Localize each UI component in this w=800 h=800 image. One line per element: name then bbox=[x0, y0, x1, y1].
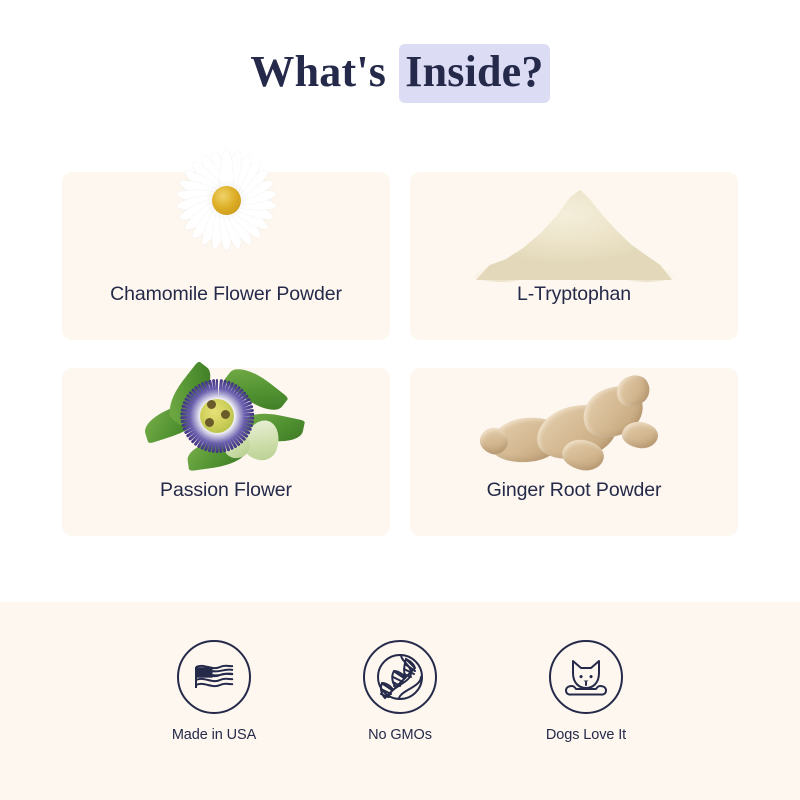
dog-with-bone-icon bbox=[549, 640, 623, 714]
dna-helix-icon bbox=[363, 640, 437, 714]
trust-badge-label: Dogs Love It bbox=[527, 727, 645, 743]
trust-badge-label: No GMOs bbox=[341, 727, 459, 743]
bloom-stigma bbox=[207, 400, 216, 409]
ingredient-label: L-Tryptophan bbox=[517, 283, 631, 306]
trust-badge-label: Made in USA bbox=[155, 727, 273, 743]
ingredient-card-l-tryptophan[interactable]: L-Tryptophan bbox=[410, 172, 738, 340]
trust-badge-no-gmos: No GMOs bbox=[341, 640, 459, 743]
ingredient-label: Passion Flower bbox=[160, 479, 292, 502]
bloom-stigma bbox=[205, 418, 214, 427]
ingredient-card-passion-flower[interactable]: Passion Flower bbox=[62, 368, 390, 536]
ingredient-label: Chamomile Flower Powder bbox=[110, 283, 342, 306]
ingredient-card-ginger-root[interactable]: Ginger Root Powder bbox=[410, 368, 738, 536]
daisy-flower-image bbox=[170, 144, 282, 256]
bloom-stigma bbox=[221, 410, 230, 419]
powder-heap bbox=[476, 186, 672, 280]
passion-bloom bbox=[177, 376, 257, 456]
ginger-knob bbox=[621, 420, 660, 450]
ginger-root-image bbox=[474, 370, 674, 482]
page-title-highlight: Inside? bbox=[399, 44, 549, 103]
ingredients-grid: Chamomile Flower Powder L-Tryptophan bbox=[62, 172, 738, 536]
trust-badges-row: Made in USA No GMOs bbox=[0, 602, 800, 743]
powder-mound-image bbox=[469, 178, 679, 286]
page-header: What's Inside? bbox=[0, 0, 800, 112]
passion-flower-image bbox=[141, 362, 311, 480]
ingredient-label: Ginger Root Powder bbox=[487, 479, 662, 502]
trust-badges-band: Made in USA No GMOs bbox=[0, 602, 800, 800]
trust-badge-dogs-love-it: Dogs Love It bbox=[527, 640, 645, 743]
page-title-plain: What's bbox=[250, 47, 397, 96]
daisy-center bbox=[212, 186, 241, 215]
ingredient-card-chamomile[interactable]: Chamomile Flower Powder bbox=[62, 172, 390, 340]
trust-badge-made-in-usa: Made in USA bbox=[155, 640, 273, 743]
page-title: What's Inside? bbox=[250, 44, 549, 103]
usa-flag-icon bbox=[177, 640, 251, 714]
